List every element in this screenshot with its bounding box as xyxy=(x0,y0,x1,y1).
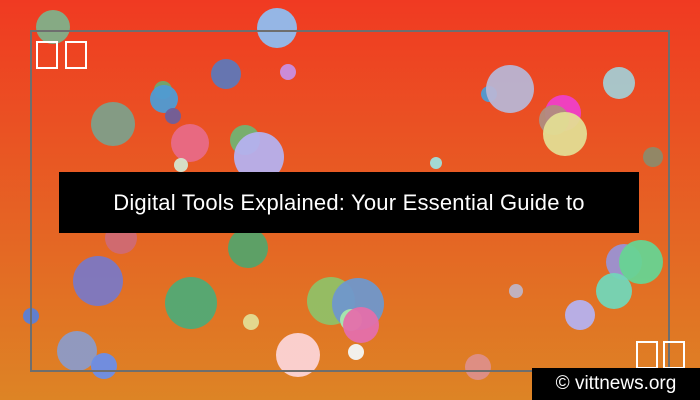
decorative-bubble xyxy=(165,277,217,329)
broken-image-placeholder-top-left-1 xyxy=(36,41,58,69)
broken-image-placeholder-bottom-right-2 xyxy=(663,341,685,369)
copyright-watermark: © vittnews.org xyxy=(556,373,677,395)
title-banner: Digital Tools Explained: Your Essential … xyxy=(59,172,639,233)
page-title: Digital Tools Explained: Your Essential … xyxy=(113,190,584,216)
decorative-bubble xyxy=(174,158,188,172)
decorative-bubble xyxy=(171,124,209,162)
watermark-banner: © vittnews.org xyxy=(532,368,700,400)
broken-image-placeholder-bottom-right-1 xyxy=(636,341,658,369)
article-hero-banner: Digital Tools Explained: Your Essential … xyxy=(0,0,700,400)
decorative-bubble xyxy=(23,308,39,324)
decorative-bubble xyxy=(91,102,135,146)
decorative-bubble xyxy=(228,228,268,268)
decorative-bubble xyxy=(36,10,70,44)
decorative-bubble xyxy=(348,344,364,360)
decorative-bubble xyxy=(343,307,379,343)
decorative-bubble xyxy=(243,314,259,330)
decorative-bubble xyxy=(276,333,320,377)
decorative-bubble xyxy=(543,112,587,156)
decorative-bubble xyxy=(73,256,123,306)
decorative-bubble xyxy=(165,108,181,124)
decorative-bubble xyxy=(643,147,663,167)
decorative-bubble xyxy=(486,65,534,113)
decorative-bubble xyxy=(280,64,296,80)
decorative-bubble xyxy=(257,8,297,48)
decorative-bubble xyxy=(596,273,632,309)
decorative-bubble xyxy=(465,354,491,380)
decorative-bubble xyxy=(211,59,241,89)
decorative-bubble xyxy=(91,353,117,379)
decorative-bubble xyxy=(565,300,595,330)
decorative-bubble xyxy=(430,157,442,169)
broken-image-placeholder-top-left-2 xyxy=(65,41,87,69)
decorative-bubble xyxy=(509,284,523,298)
decorative-bubble xyxy=(603,67,635,99)
